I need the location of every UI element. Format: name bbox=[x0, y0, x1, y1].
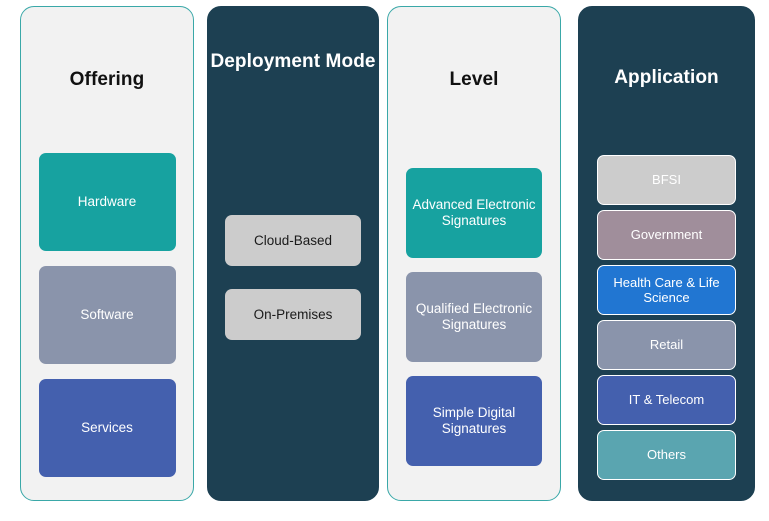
segment-item-list-application: BFSI Government Health Care & Life Scien… bbox=[579, 155, 754, 480]
segment-column-application: Application BFSI Government Health Care … bbox=[578, 6, 755, 501]
segment-item-label: Advanced Electronic Signatures bbox=[412, 197, 536, 229]
segment-item-label: Government bbox=[631, 227, 703, 242]
segment-item-label: Cloud-Based bbox=[254, 233, 332, 249]
segment-item-software[interactable]: Software bbox=[39, 266, 176, 364]
segment-item-bfsi[interactable]: BFSI bbox=[597, 155, 736, 205]
segment-item-simple-digital-signatures[interactable]: Simple Digital Signatures bbox=[406, 376, 542, 466]
segment-column-deployment-mode: Deployment Mode Cloud-Based On-Premises bbox=[207, 6, 379, 501]
segment-column-offering: Offering Hardware Software Services bbox=[20, 6, 194, 501]
segment-item-label: Hardware bbox=[78, 194, 137, 210]
segment-column-level: Level Advanced Electronic Signatures Qua… bbox=[387, 6, 561, 501]
segment-item-list-level: Advanced Electronic Signatures Qualified… bbox=[388, 168, 560, 466]
column-title-level: Level bbox=[449, 69, 498, 90]
segment-item-cloud-based[interactable]: Cloud-Based bbox=[225, 215, 361, 266]
segment-item-label: Retail bbox=[650, 337, 683, 352]
column-title-offering: Offering bbox=[70, 69, 145, 90]
column-title-deployment-mode: Deployment Mode bbox=[210, 51, 375, 72]
segment-item-label: Services bbox=[81, 420, 133, 436]
segment-item-retail[interactable]: Retail bbox=[597, 320, 736, 370]
segment-item-label: Software bbox=[80, 307, 133, 323]
segment-item-label: IT & Telecom bbox=[629, 392, 704, 407]
segment-item-services[interactable]: Services bbox=[39, 379, 176, 477]
segment-item-on-premises[interactable]: On-Premises bbox=[225, 289, 361, 340]
segment-item-label: Others bbox=[647, 447, 686, 462]
segment-item-label: BFSI bbox=[652, 172, 681, 187]
segment-item-list-deployment-mode: Cloud-Based On-Premises bbox=[208, 215, 378, 340]
segment-item-label: Qualified Electronic Signatures bbox=[412, 301, 536, 333]
segment-item-hardware[interactable]: Hardware bbox=[39, 153, 176, 251]
segment-item-health-care-life-science[interactable]: Health Care & Life Science bbox=[597, 265, 736, 315]
segment-item-others[interactable]: Others bbox=[597, 430, 736, 480]
segment-item-advanced-electronic-signatures[interactable]: Advanced Electronic Signatures bbox=[406, 168, 542, 258]
segment-item-label: Simple Digital Signatures bbox=[412, 405, 536, 437]
segment-item-it-telecom[interactable]: IT & Telecom bbox=[597, 375, 736, 425]
segmentation-infographic: Offering Hardware Software Services Depl… bbox=[0, 0, 769, 521]
segment-item-label: On-Premises bbox=[254, 307, 333, 323]
segment-item-government[interactable]: Government bbox=[597, 210, 736, 260]
segment-item-qualified-electronic-signatures[interactable]: Qualified Electronic Signatures bbox=[406, 272, 542, 362]
segment-item-list-offering: Hardware Software Services bbox=[21, 153, 193, 477]
segment-item-label: Health Care & Life Science bbox=[604, 275, 729, 306]
column-title-application: Application bbox=[614, 67, 719, 88]
